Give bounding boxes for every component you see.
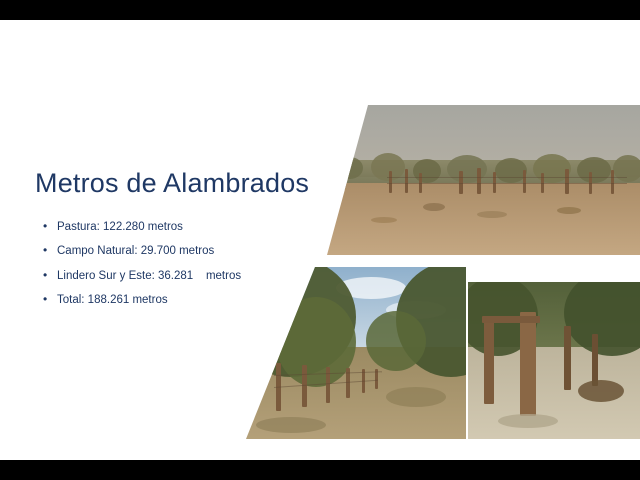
fence-post (592, 334, 598, 386)
ground-debris (578, 380, 624, 402)
fence-post (477, 168, 481, 194)
gate-post (484, 320, 494, 404)
fence-post (565, 169, 569, 194)
fence-post (302, 365, 307, 407)
tree-crown (447, 155, 487, 183)
photo-fenceline-wide (327, 105, 640, 255)
page-title: Metros de Alambrados (35, 169, 365, 199)
list-item: Pastura: 122.280 metros (40, 220, 350, 234)
list-item: Campo Natural: 29.700 metros (40, 244, 350, 258)
presentation-slide: Metros de Alambrados Pastura: 122.280 me… (0, 20, 640, 460)
fence-post (564, 326, 571, 390)
fence-wire (387, 177, 627, 178)
list-item: Lindero Sur y Este: 36.281 metros (40, 269, 350, 283)
tree-crown (577, 157, 611, 183)
fence-wire (387, 183, 627, 184)
fence-post (611, 170, 614, 194)
ground-debris (477, 211, 507, 218)
ground-debris (498, 414, 558, 428)
ground-debris (256, 417, 326, 433)
fence-post (523, 170, 526, 193)
tree-mass-right (366, 311, 426, 371)
photo-gate-posts (468, 282, 640, 439)
fence-post (389, 171, 392, 193)
gate-post (520, 312, 536, 416)
ground-debris (557, 207, 581, 214)
slide-stage: Metros de Alambrados Pastura: 122.280 me… (0, 0, 640, 480)
tree-crown (413, 159, 441, 183)
ground-debris (423, 203, 445, 211)
gate-crossbar (482, 316, 540, 323)
ground-debris (386, 387, 446, 407)
ground-debris (371, 217, 397, 223)
fence-post (405, 169, 408, 193)
